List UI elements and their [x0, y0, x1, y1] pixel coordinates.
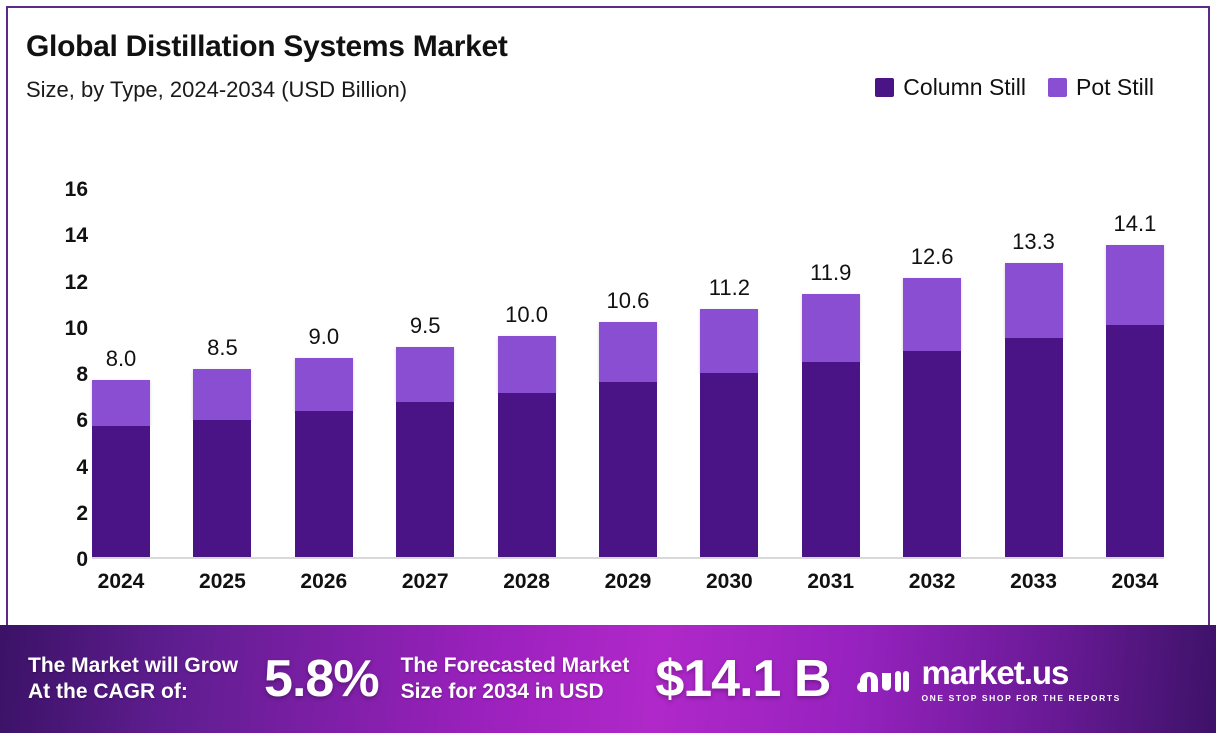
forecast-caption: The Forecasted Market Size for 2034 in U…: [401, 653, 630, 706]
bar-column[interactable]: 8.5: [193, 203, 251, 557]
cagr-caption-line1: The Market will Grow: [28, 653, 238, 679]
logo-tagline: ONE STOP SHOP FOR THE REPORTS: [921, 693, 1120, 703]
x-axis-tick: 2028: [498, 570, 556, 604]
bar-segment-pot-still[interactable]: [802, 294, 860, 363]
x-axis-tick: 2027: [396, 570, 454, 604]
bar-column[interactable]: 11.9: [802, 203, 860, 557]
bar-segment-pot-still[interactable]: [1106, 245, 1164, 325]
bar-column[interactable]: 10.0: [498, 203, 556, 557]
bar-value-label: 9.0: [308, 324, 339, 350]
chart-plot-area: 0246810121416 8.08.59.09.510.010.611.211…: [0, 0, 1204, 609]
bar-segment-pot-still[interactable]: [903, 278, 961, 351]
bar-column[interactable]: 10.6: [599, 203, 657, 557]
forecast-caption-line2: Size for 2034 in USD: [401, 679, 630, 705]
bar-column[interactable]: 9.5: [396, 203, 454, 557]
forecast-caption-line1: The Forecasted Market: [401, 653, 630, 679]
bar-segment-pot-still[interactable]: [396, 347, 454, 402]
bar-segment-column-still[interactable]: [700, 373, 758, 557]
bar-column[interactable]: 8.0: [92, 203, 150, 557]
y-axis-tick: 12: [40, 271, 88, 295]
bar-value-label: 14.1: [1113, 211, 1156, 237]
bar-segment-pot-still[interactable]: [295, 358, 353, 411]
x-axis-tick: 2026: [295, 570, 353, 604]
bar-value-label: 11.2: [709, 275, 750, 301]
x-axis-tick: 2030: [700, 570, 758, 604]
x-axis-tick: 2034: [1106, 570, 1164, 604]
y-axis-tick: 0: [40, 548, 88, 572]
bar-segment-column-still[interactable]: [1106, 325, 1164, 557]
y-axis-tick: 8: [40, 363, 88, 387]
bar-segment-pot-still[interactable]: [193, 369, 251, 420]
bar-group: 8.08.59.09.510.010.611.211.912.613.314.1: [92, 203, 1164, 557]
bar-value-label: 11.9: [810, 260, 851, 286]
bar-segment-pot-still[interactable]: [599, 322, 657, 382]
bar-value-label: 10.6: [607, 288, 650, 314]
x-axis-baseline: [92, 557, 1164, 559]
cagr-caption-line2: At the CAGR of:: [28, 679, 238, 705]
infographic-root: Global Distillation Systems Market Size,…: [0, 0, 1216, 733]
y-axis-tick: 6: [40, 409, 88, 433]
forecast-value: $14.1 B: [655, 649, 830, 709]
bar-segment-column-still[interactable]: [802, 362, 860, 557]
bar-segment-pot-still[interactable]: [92, 380, 150, 426]
bar-segment-column-still[interactable]: [295, 411, 353, 557]
bar-column[interactable]: 11.2: [700, 203, 758, 557]
bar-value-label: 10.0: [505, 302, 548, 328]
logo-wordmark: market.us: [921, 656, 1120, 689]
x-axis-tick: 2033: [1005, 570, 1063, 604]
bar-segment-column-still[interactable]: [193, 420, 251, 557]
bar-segment-column-still[interactable]: [599, 382, 657, 557]
cagr-block: The Market will Grow At the CAGR of: 5.8…: [28, 649, 401, 709]
bar-value-label: 8.0: [106, 346, 137, 372]
y-axis-tick: 14: [40, 224, 88, 248]
bar-value-label: 13.3: [1012, 229, 1055, 255]
x-axis-tick: 2031: [802, 570, 860, 604]
y-axis-tick: 10: [40, 317, 88, 341]
bar-segment-pot-still[interactable]: [700, 309, 758, 373]
bar-value-label: 8.5: [207, 335, 238, 361]
bar-column[interactable]: 12.6: [903, 203, 961, 557]
x-axis-tick: 2032: [903, 570, 961, 604]
bar-value-label: 12.6: [911, 244, 954, 270]
bar-segment-pot-still[interactable]: [1005, 263, 1063, 338]
bar-column[interactable]: 9.0: [295, 203, 353, 557]
bar-column[interactable]: 14.1: [1106, 203, 1164, 557]
bar-segment-column-still[interactable]: [1005, 338, 1063, 557]
bar-segment-column-still[interactable]: [92, 426, 150, 557]
x-axis: 2024202520262027202820292030203120322033…: [92, 570, 1164, 604]
forecast-block: The Forecasted Market Size for 2034 in U…: [401, 649, 849, 709]
y-axis-tick: 16: [40, 178, 88, 202]
x-axis-tick: 2029: [599, 570, 657, 604]
y-axis-tick: 2: [40, 502, 88, 526]
cagr-value: 5.8%: [264, 649, 379, 709]
market-us-logo-text: market.us ONE STOP SHOP FOR THE REPORTS: [921, 656, 1120, 703]
y-axis-tick: 4: [40, 456, 88, 480]
x-axis-tick: 2025: [193, 570, 251, 604]
bar-value-label: 9.5: [410, 313, 441, 339]
x-axis-tick: 2024: [92, 570, 150, 604]
bar-segment-column-still[interactable]: [396, 402, 454, 557]
bar-segment-column-still[interactable]: [498, 393, 556, 557]
cagr-caption: The Market will Grow At the CAGR of:: [28, 653, 238, 706]
market-us-logo-icon: [854, 659, 910, 699]
y-axis: 0246810121416: [40, 190, 88, 560]
bar-segment-column-still[interactable]: [903, 351, 961, 557]
bar-column[interactable]: 13.3: [1005, 203, 1063, 557]
bar-segment-pot-still[interactable]: [498, 336, 556, 394]
summary-banner: The Market will Grow At the CAGR of: 5.8…: [0, 625, 1216, 733]
market-us-logo[interactable]: market.us ONE STOP SHOP FOR THE REPORTS: [854, 656, 1120, 703]
